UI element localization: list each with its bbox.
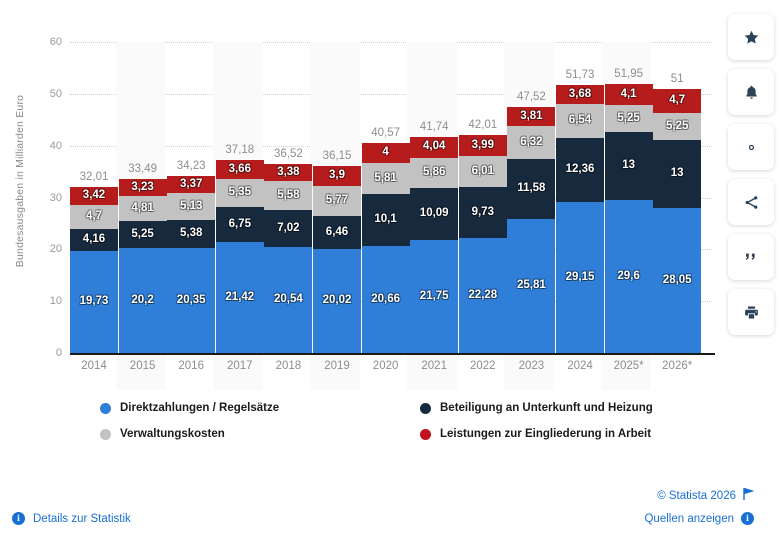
bar-segment-value: 3,23	[131, 182, 153, 194]
bar-segment-value: 20,66	[371, 294, 400, 306]
bar-segment[interactable]: 5,13	[167, 193, 215, 220]
bar-segment[interactable]: 5,58	[264, 181, 312, 210]
bar-segment[interactable]: 21,42	[216, 242, 264, 353]
bar-segment[interactable]: 4,7	[70, 205, 118, 229]
bar-column[interactable]: 3,665,356,7521,4237,18	[216, 160, 264, 353]
bar-segment-value: 25,81	[517, 280, 546, 292]
bar-segment-value: 6,32	[520, 137, 542, 149]
bar-column[interactable]: 4,15,251329,651,95	[605, 84, 653, 353]
bar-segment-value: 5,25	[617, 113, 639, 125]
bar-segment[interactable]: 22,28	[459, 238, 507, 353]
y-axis-tick-label: 0	[28, 347, 62, 359]
legend-item[interactable]: Verwaltungskosten	[100, 428, 225, 440]
bar-segment-value: 6,75	[229, 219, 251, 231]
bar-column[interactable]: 3,385,587,0220,5436,52	[264, 164, 312, 353]
bar-column[interactable]: 3,234,815,2520,233,49	[119, 179, 167, 353]
bar-segment[interactable]: 12,36	[556, 138, 604, 202]
bar-segment[interactable]: 4	[362, 143, 410, 164]
bar-segment[interactable]: 3,9	[313, 166, 361, 186]
bar-segment[interactable]: 5,25	[605, 105, 653, 132]
y-axis-title: Bundesausgaben in Milliarden Euro	[14, 51, 26, 311]
bar-segment[interactable]: 5,86	[410, 158, 458, 188]
bar-segment-value: 5,81	[374, 173, 396, 185]
bar-segment-value: 5,25	[131, 229, 153, 241]
bar-segment[interactable]: 13	[605, 132, 653, 199]
legend-color-swatch	[100, 403, 111, 414]
bar-column[interactable]: 4,045,8610,0921,7541,74	[410, 137, 458, 353]
bar-segment-value: 20,2	[131, 295, 153, 307]
bar-segment[interactable]: 28,05	[653, 208, 701, 353]
flag-icon	[743, 488, 754, 503]
bar-segment-value: 22,28	[468, 290, 497, 302]
bar-segment[interactable]: 4,7	[653, 89, 701, 113]
plot-area: 3,424,74,1619,7332,013,234,815,2520,233,…	[70, 0, 718, 353]
bar-segment[interactable]: 4,1	[605, 84, 653, 105]
bar-segment-value: 29,6	[617, 271, 639, 283]
notification-bell-button[interactable]	[728, 69, 774, 115]
bar-segment[interactable]: 4,04	[410, 137, 458, 158]
bar-segment[interactable]: 3,38	[264, 164, 312, 182]
citation-quote-button[interactable]	[728, 234, 774, 280]
settings-gear-icon	[743, 139, 760, 156]
legend-item-label: Direktzahlungen / Regelsätze	[120, 402, 279, 414]
bar-segment[interactable]: 20,2	[119, 248, 167, 353]
bar-segment-value: 20,02	[323, 295, 352, 307]
bar-segment[interactable]: 3,66	[216, 160, 264, 179]
bar-column[interactable]: 3,816,3211,5825,8147,52	[507, 107, 555, 353]
bar-segment-value: 6,54	[569, 115, 591, 127]
copyright-label: © Statista 2026	[657, 490, 736, 502]
bar-segment-value: 19,73	[80, 296, 109, 308]
bar-column[interactable]: 3,686,5412,3629,1551,73	[556, 85, 604, 353]
legend-item[interactable]: Beteiligung an Unterkunft und Heizung	[420, 402, 653, 414]
legend-item-label: Verwaltungskosten	[120, 428, 225, 440]
bar-segment-value: 12,36	[566, 164, 595, 176]
legend-item[interactable]: Leistungen zur Eingliederung in Arbeit	[420, 428, 651, 440]
bar-segment-value: 3,81	[520, 111, 542, 123]
bar-segment-value: 21,75	[420, 291, 449, 303]
bar-segment[interactable]: 29,6	[605, 200, 653, 353]
bar-segment-value: 4,04	[423, 141, 445, 153]
bar-segment-value: 9,73	[472, 207, 494, 219]
bar-segment[interactable]: 3,99	[459, 135, 507, 156]
statista-chart-page: Bundesausgaben in Milliarden Euro 010203…	[0, 0, 782, 555]
legend-color-swatch	[420, 429, 431, 440]
bar-segment[interactable]: 9,73	[459, 187, 507, 237]
x-axis-line	[70, 353, 715, 355]
chart-tool-rail	[728, 14, 774, 335]
favorite-star-button[interactable]	[728, 14, 774, 60]
bar-segment-value: 13	[622, 160, 635, 172]
bar-segment[interactable]: 6,54	[556, 104, 604, 138]
bar-segment-value: 5,86	[423, 167, 445, 179]
bar-segment[interactable]: 3,68	[556, 85, 604, 104]
bar-segment-value: 3,37	[180, 179, 202, 191]
bar-segment-value: 20,54	[274, 294, 303, 306]
bar-segment-value: 11,58	[517, 183, 545, 195]
bar-segment-value: 5,77	[326, 195, 348, 207]
bar-segment-value: 4,7	[669, 95, 685, 107]
info-icon: i	[12, 512, 25, 525]
bar-segment-value: 7,02	[277, 223, 299, 235]
bar-segment-value: 4,1	[621, 89, 637, 101]
y-axis-tick-label: 40	[28, 140, 62, 152]
bar-segment-value: 3,99	[472, 140, 494, 152]
bar-segment[interactable]: 13	[653, 140, 701, 207]
bar-segment-value: 5,38	[180, 228, 202, 240]
bar-segment[interactable]: 25,81	[507, 219, 555, 353]
legend-color-swatch	[100, 429, 111, 440]
bar-segment[interactable]: 4,16	[70, 229, 118, 251]
bar-segment-value: 5,13	[180, 201, 202, 213]
bar-segment[interactable]: 3,42	[70, 187, 118, 205]
bar-segment[interactable]: 6,01	[459, 156, 507, 187]
bar-segment[interactable]: 5,38	[167, 220, 215, 248]
legend-item[interactable]: Direktzahlungen / Regelsätze	[100, 402, 279, 414]
share-icon	[743, 194, 760, 211]
favorite-star-icon	[743, 29, 760, 46]
bar-segment[interactable]: 10,1	[362, 194, 410, 246]
bar-segment-value: 28,05	[663, 275, 692, 287]
details-zur-statistik-link[interactable]: i Details zur Statistik	[12, 512, 131, 525]
bar-segment[interactable]: 3,37	[167, 176, 215, 193]
quellen-anzeigen-link[interactable]: Quellen anzeigen i	[644, 512, 754, 525]
bar-segment-value: 3,38	[277, 167, 299, 179]
info-icon: i	[741, 512, 754, 525]
bar-segment[interactable]: 6,32	[507, 126, 555, 159]
legend-item-label: Beteiligung an Unterkunft und Heizung	[440, 402, 653, 414]
bar-segment[interactable]: 29,15	[556, 202, 604, 353]
bar-segment-value: 20,35	[177, 295, 206, 307]
bar-segment[interactable]: 5,25	[653, 113, 701, 140]
bar-segment-value: 3,9	[329, 170, 345, 182]
bar-segment[interactable]: 20,66	[362, 246, 410, 353]
bar-segment[interactable]: 4,81	[119, 196, 167, 221]
copyright-notice: © Statista 2026	[657, 488, 754, 503]
settings-gear-button[interactable]	[728, 124, 774, 170]
bar-segment-value: 4,16	[83, 234, 105, 246]
bar-segment-value: 5,35	[229, 187, 251, 199]
bar-segment-value: 5,58	[277, 190, 299, 202]
bar-segment-value: 21,42	[225, 292, 254, 304]
bar-total-label: 51	[642, 73, 712, 85]
bar-segment[interactable]: 11,58	[507, 159, 555, 219]
chart-container: Bundesausgaben in Milliarden Euro 010203…	[0, 0, 726, 390]
bar-segment-value: 10,09	[420, 208, 449, 220]
y-axis-tick-label: 30	[28, 192, 62, 204]
bar-segment[interactable]: 6,46	[313, 216, 361, 249]
bar-segment[interactable]: 5,77	[313, 186, 361, 216]
legend-color-swatch	[420, 403, 431, 414]
legend-item-label: Leistungen zur Eingliederung in Arbeit	[440, 428, 651, 440]
bar-column[interactable]: 3,375,135,3820,3534,23	[167, 176, 215, 353]
bar-segment[interactable]: 6,75	[216, 207, 264, 242]
bar-segment[interactable]: 19,73	[70, 251, 118, 353]
bar-segment-value: 4,7	[86, 211, 102, 223]
y-axis-tick-label: 10	[28, 295, 62, 307]
bar-column[interactable]: 3,95,776,4620,0236,15	[313, 166, 361, 353]
bar-column[interactable]: 3,424,74,1619,7332,01	[70, 187, 118, 353]
bar-column[interactable]: 45,8110,120,6640,57	[362, 143, 410, 353]
bar-segment-value: 4,81	[131, 203, 153, 215]
notification-bell-icon	[743, 84, 760, 101]
bar-segment[interactable]: 5,35	[216, 179, 264, 207]
bar-column[interactable]: 3,996,019,7322,2842,01	[459, 135, 507, 353]
bar-segment[interactable]: 10,09	[410, 188, 458, 240]
bar-segment[interactable]: 20,54	[264, 247, 312, 353]
bar-segment-value: 29,15	[566, 272, 595, 284]
bar-segment[interactable]: 5,25	[119, 221, 167, 248]
bar-segment[interactable]: 3,81	[507, 107, 555, 127]
print-button[interactable]	[728, 289, 774, 335]
bar-segment[interactable]: 3,23	[119, 179, 167, 196]
bar-segment-value: 13	[671, 168, 684, 180]
x-axis-tick-label: 2026*	[647, 360, 707, 372]
details-link-label: Details zur Statistik	[33, 513, 131, 525]
bar-segment[interactable]: 20,35	[167, 248, 215, 353]
print-icon	[743, 304, 760, 321]
y-axis-tick-label: 50	[28, 88, 62, 100]
bar-segment-value: 6,01	[472, 166, 494, 178]
bar-segment-value: 5,25	[666, 121, 688, 133]
y-axis-tick-label: 60	[28, 36, 62, 48]
bar-segment-value: 10,1	[374, 214, 396, 226]
bar-segment-value: 3,68	[569, 89, 591, 101]
bar-segment[interactable]: 7,02	[264, 210, 312, 246]
bar-column[interactable]: 4,75,251328,0551	[653, 89, 701, 353]
bar-segment-value: 3,66	[229, 164, 251, 176]
bar-segment-value: 4	[382, 147, 388, 159]
sources-link-label: Quellen anzeigen	[644, 513, 734, 525]
citation-quote-icon	[743, 249, 759, 265]
y-axis-tick-label: 20	[28, 243, 62, 255]
bar-segment-value: 3,42	[83, 190, 105, 202]
bar-segment-value: 6,46	[326, 227, 348, 239]
page-footer: i Details zur Statistik © Statista 2026 …	[0, 470, 782, 555]
chart-legend: Direktzahlungen / RegelsätzeBeteiligung …	[100, 398, 720, 450]
bar-segment[interactable]: 21,75	[410, 240, 458, 353]
share-button[interactable]	[728, 179, 774, 225]
bar-segment[interactable]: 5,81	[362, 163, 410, 193]
bar-segment[interactable]: 20,02	[313, 249, 361, 353]
